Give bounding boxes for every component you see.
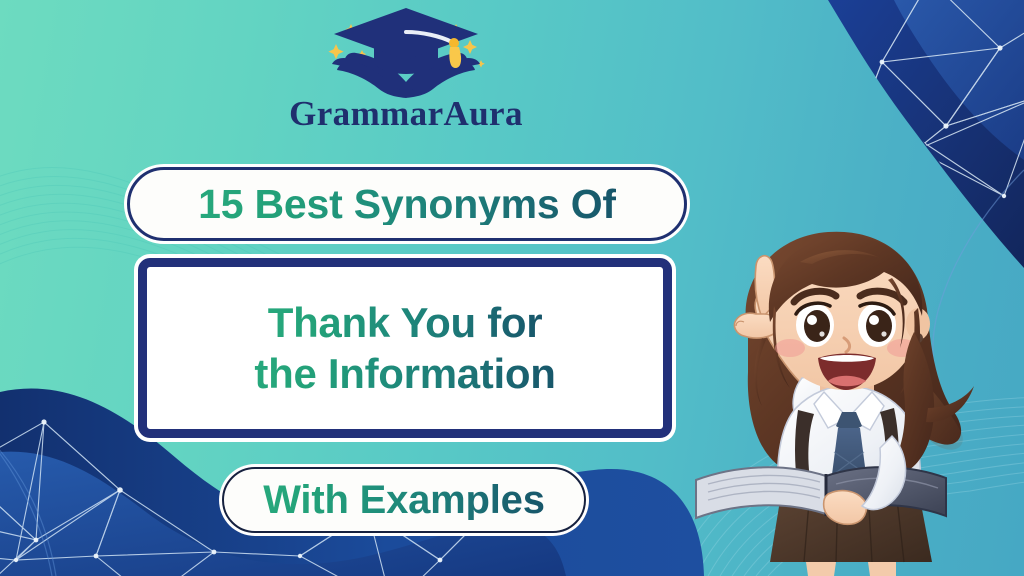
brand-logo-block: GrammarAura	[0, 2, 812, 133]
kicker-text: 15 Best Synonyms Of	[198, 184, 616, 225]
eye-left	[796, 303, 834, 347]
kicker-pill: 15 Best Synonyms Of	[127, 167, 687, 241]
main-title-box: Thank You for the Information	[138, 258, 672, 438]
title-line-1: Thank You for	[268, 297, 543, 348]
polygon-nodes-top-right	[864, 0, 1024, 198]
tassel	[449, 38, 461, 68]
leg-right	[868, 562, 896, 576]
leg-left	[806, 562, 836, 576]
footer-pill: With Examples	[222, 467, 586, 533]
footer-text: With Examples	[263, 480, 545, 520]
eye-right	[858, 303, 896, 347]
schoolgirl-illustration	[678, 222, 1014, 576]
blush-left	[775, 339, 805, 357]
brand-name: GrammarAura	[0, 96, 812, 133]
title-line-2: the Information	[254, 348, 555, 399]
polygon-network-top-right	[866, 0, 1024, 196]
graduation-cap-book-icon	[318, 2, 494, 98]
thumbnail-canvas: GrammarAura 15 Best Synonyms Of Thank Yo…	[0, 0, 1024, 576]
